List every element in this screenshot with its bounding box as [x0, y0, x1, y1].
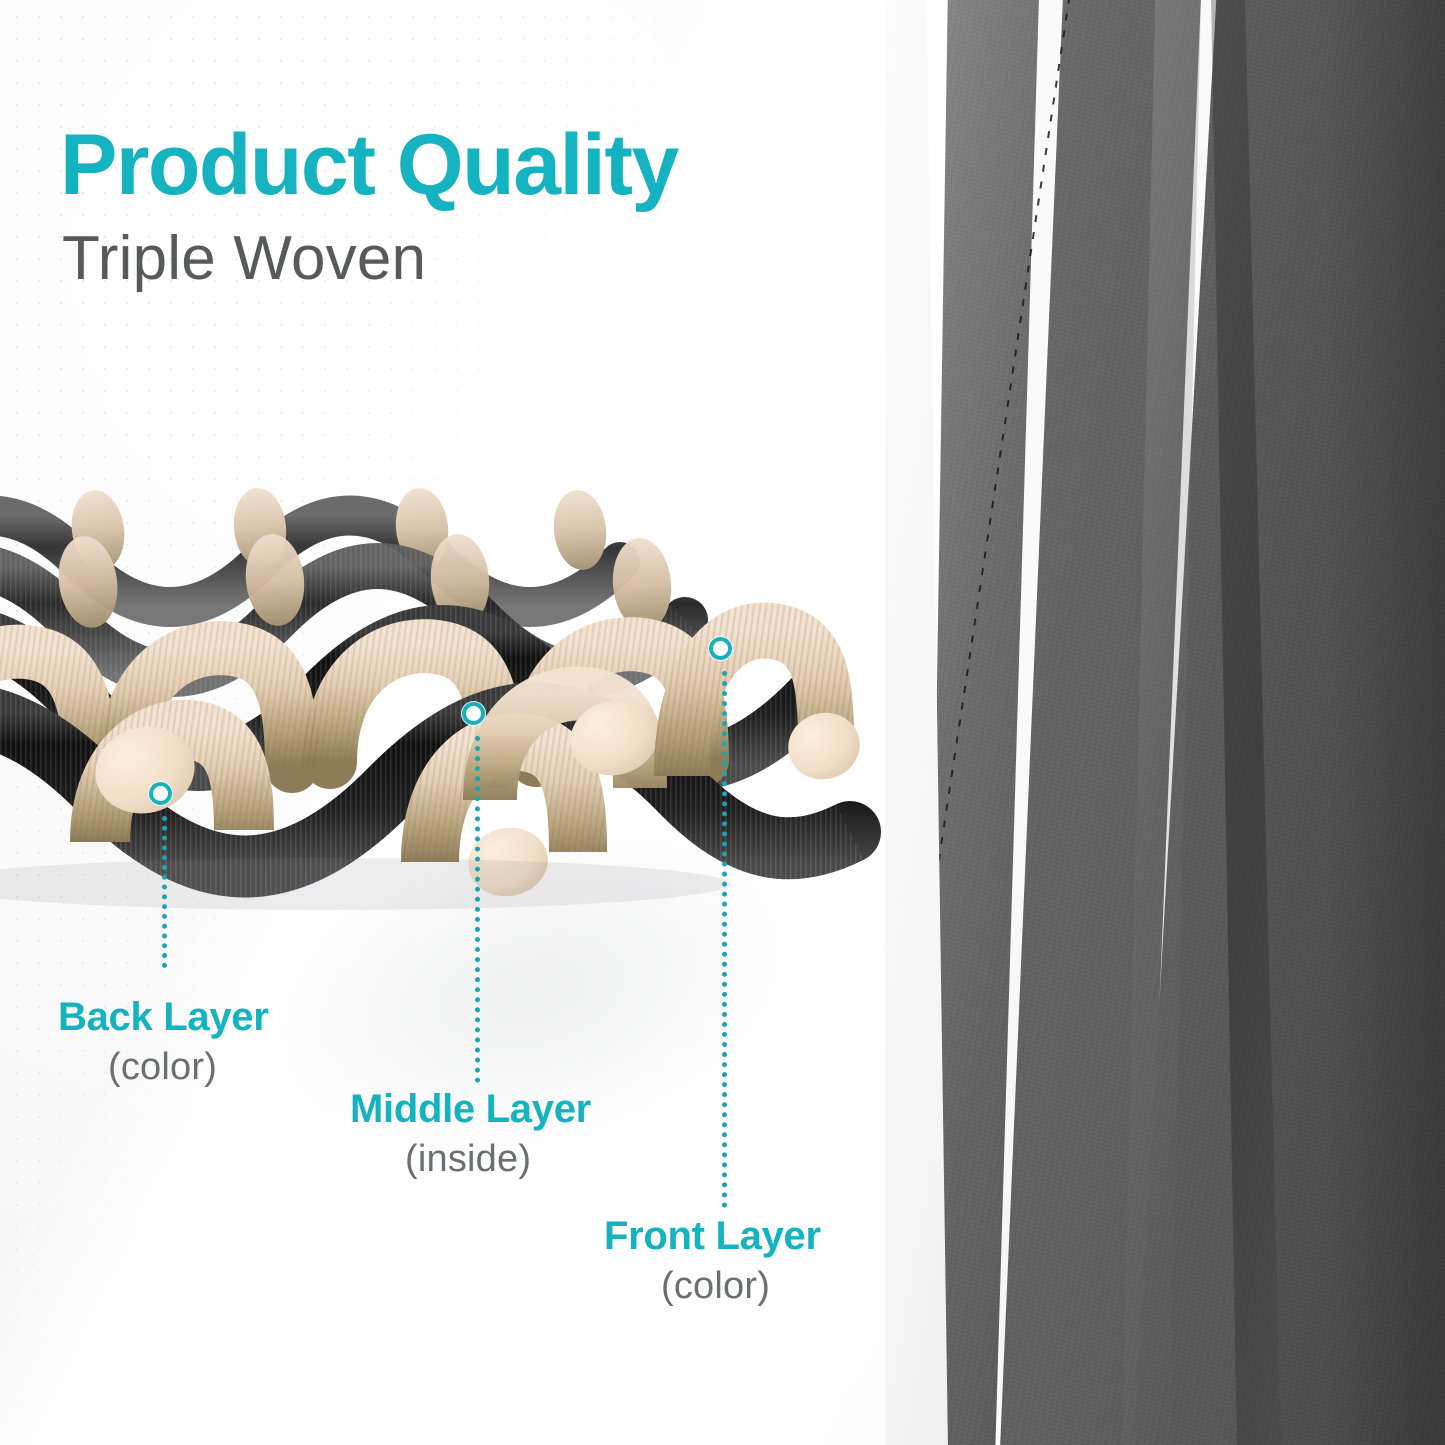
callout-marker-front-layer[interactable]: [709, 637, 732, 660]
callout-sublabel-back-layer: (color): [108, 1048, 217, 1086]
callout-leader-back-layer: [162, 816, 167, 968]
callout-marker-middle-layer[interactable]: [462, 702, 485, 725]
gray-curtain-panel: [885, 0, 1445, 1445]
callout-label-front-layer: Front Layer: [604, 1216, 821, 1256]
page-subtitle: Triple Woven: [62, 228, 426, 290]
page-title: Product Quality: [60, 122, 678, 208]
callout-sublabel-front-layer: (color): [661, 1267, 770, 1305]
callout-marker-back-layer[interactable]: [149, 782, 172, 805]
curtain-edge-shade: [1325, 0, 1445, 1445]
callout-label-middle-layer: Middle Layer: [350, 1089, 591, 1129]
callout-label-back-layer: Back Layer: [58, 997, 268, 1037]
callout-leader-front-layer: [722, 671, 727, 1208]
infographic-canvas: Product Quality Triple Woven: [0, 0, 1445, 1445]
callout-sublabel-middle-layer: (inside): [405, 1140, 531, 1178]
triple-woven-illustration: [0, 470, 860, 900]
callout-leader-middle-layer: [475, 736, 480, 1083]
